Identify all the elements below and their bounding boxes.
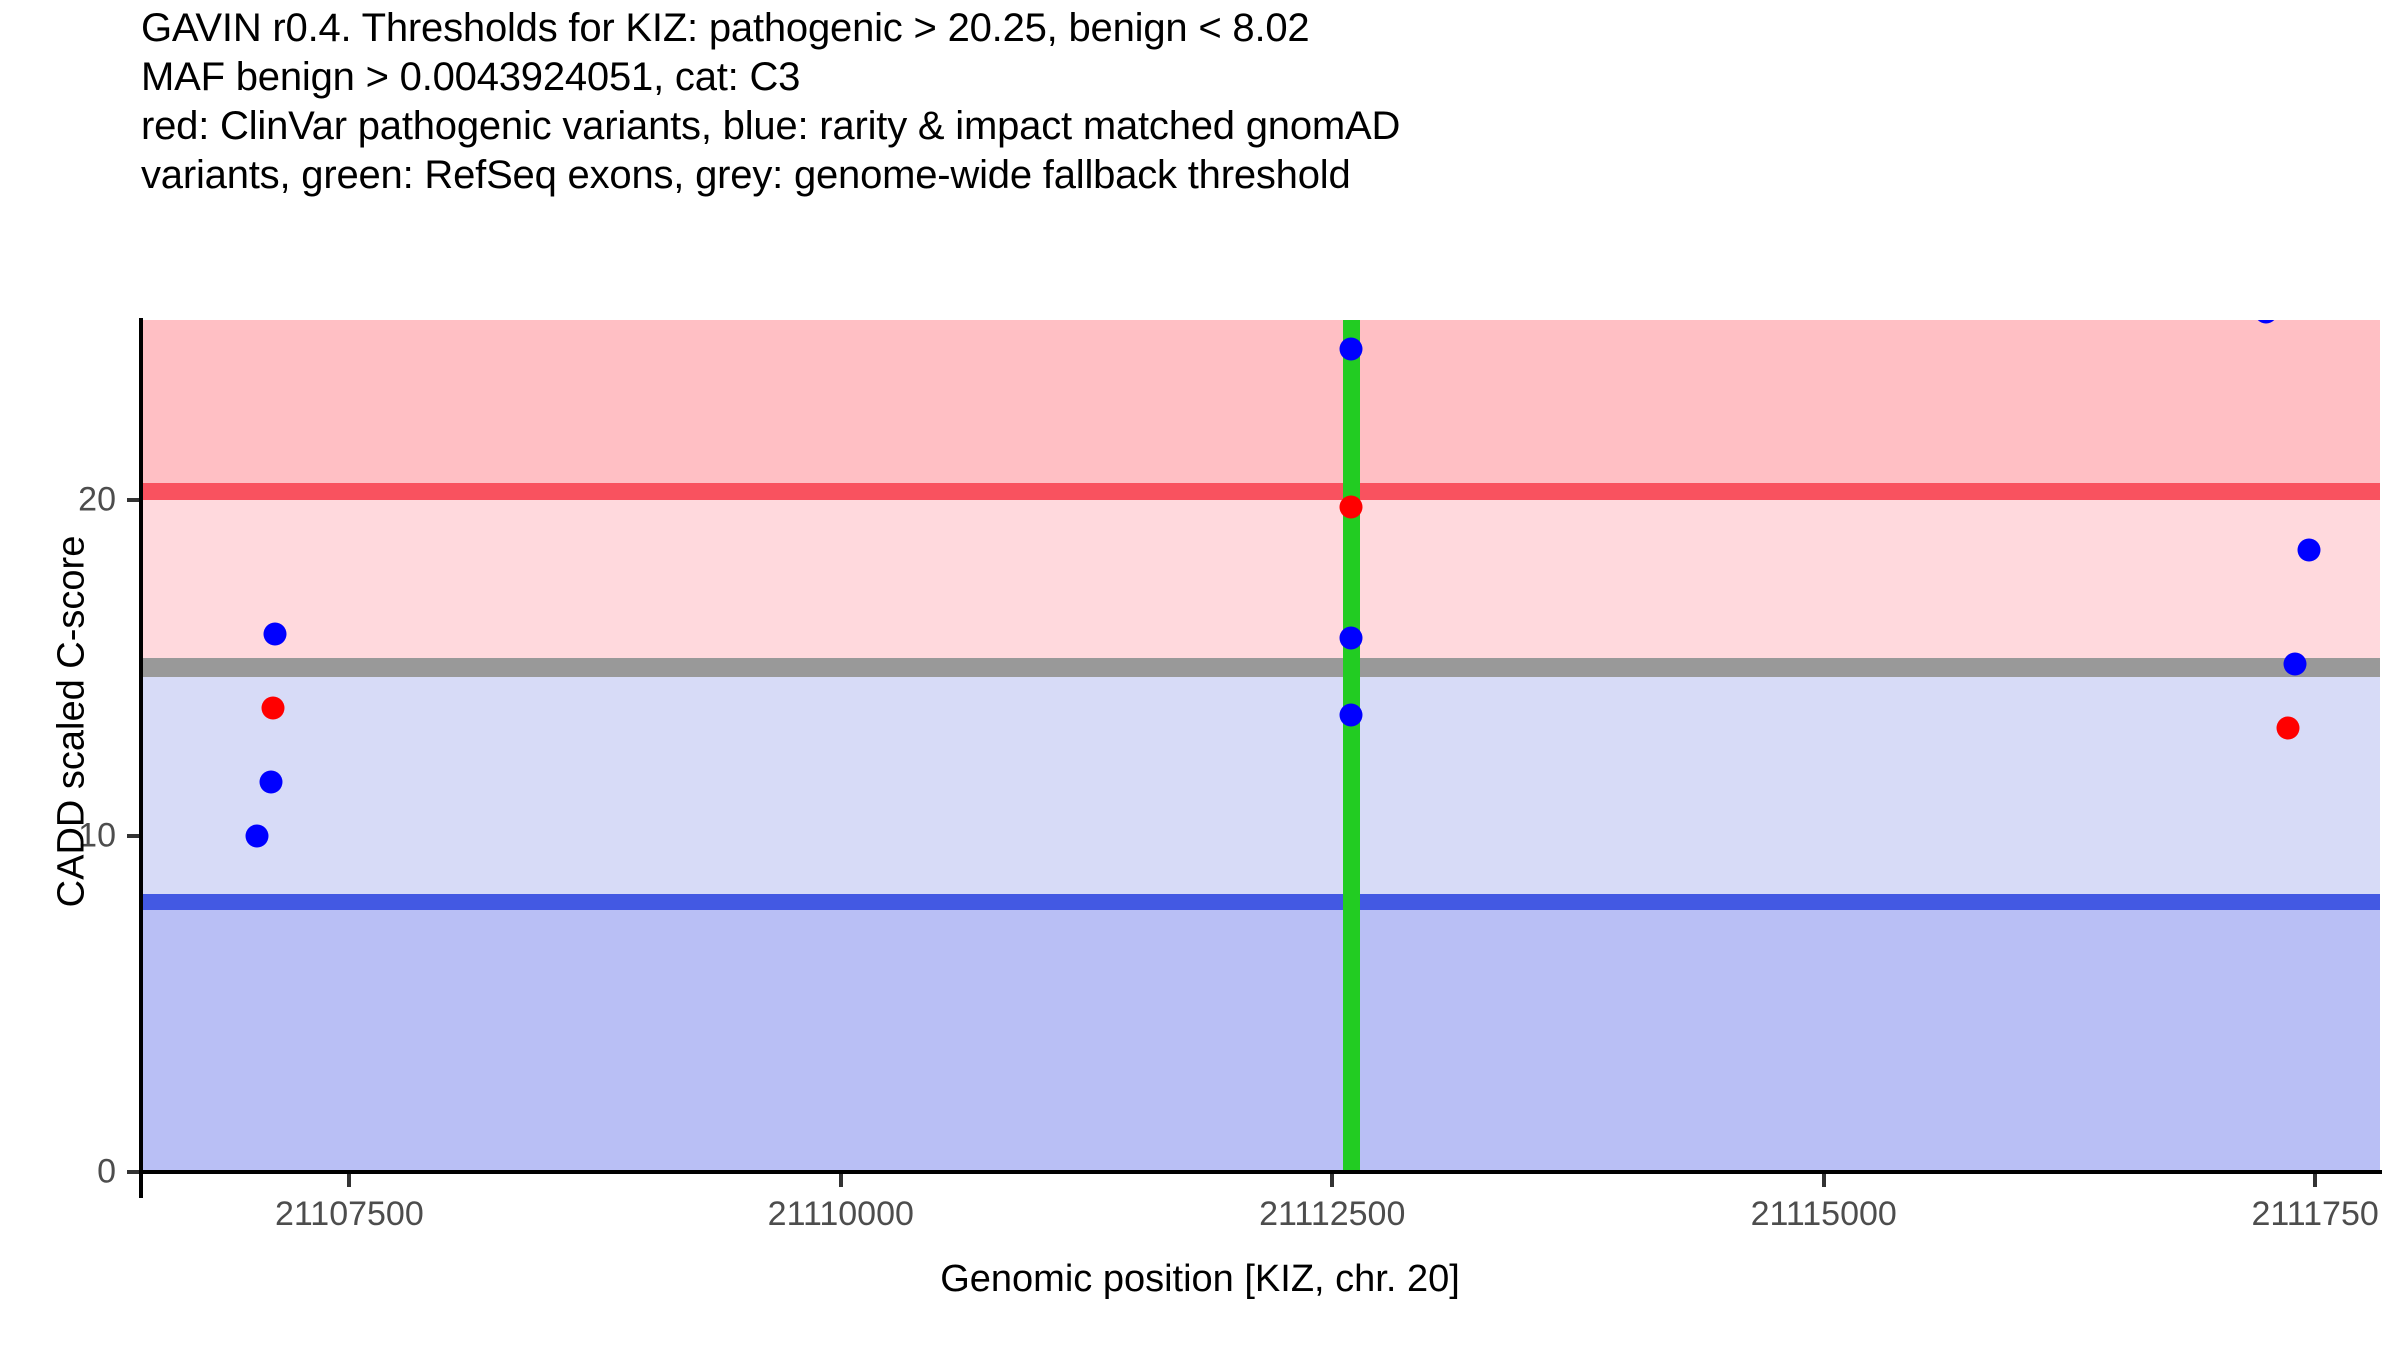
vus-lower-band: [141, 668, 2380, 903]
x-axis-tick-label: 2111750: [2251, 1195, 2378, 1234]
x-axis-title: Genomic position [KIZ, chr. 20]: [0, 1258, 2400, 1301]
x-axis-tick-label: 21112500: [1259, 1195, 1405, 1234]
data-point[interactable]: [2284, 653, 2307, 676]
chart-title-line-2: MAF benign > 0.0043924051, cat: C3: [141, 53, 2381, 102]
benign-band: [141, 902, 2380, 1172]
y-axis-tick-label: 0: [11, 1153, 116, 1192]
vus-upper-band: [141, 491, 2380, 667]
plot-panel-inner: [141, 320, 2380, 1172]
data-point[interactable]: [1339, 495, 1362, 518]
y-axis-line: [139, 318, 143, 1198]
data-point[interactable]: [1339, 703, 1362, 726]
chart-title-block: GAVIN r0.4. Thresholds for KIZ: pathogen…: [141, 4, 2381, 200]
data-point[interactable]: [1339, 626, 1362, 649]
x-axis-tick-label: 21115000: [1751, 1195, 1897, 1234]
y-axis-tick-mark: [127, 834, 139, 838]
pathogenic-band: [141, 320, 2380, 491]
plot-panel: [141, 320, 2380, 1172]
refseq-exon: [1343, 320, 1360, 1172]
x-axis-tick-mark: [347, 1174, 351, 1187]
benign-threshold-line: [141, 894, 2380, 910]
chart-title-line-3: red: ClinVar pathogenic variants, blue: …: [141, 102, 2381, 151]
data-point[interactable]: [2298, 539, 2321, 562]
y-axis-title: CADD scaled C-score: [51, 332, 94, 1112]
chart-title-line-1: GAVIN r0.4. Thresholds for KIZ: pathogen…: [141, 4, 2381, 53]
y-axis-tick-mark: [127, 1170, 139, 1174]
data-point[interactable]: [245, 824, 268, 847]
data-point[interactable]: [263, 623, 286, 646]
x-axis-tick-mark: [839, 1174, 843, 1187]
x-axis-tick-mark: [1330, 1174, 1334, 1187]
x-axis-line: [137, 1170, 2382, 1174]
data-point[interactable]: [1339, 337, 1362, 360]
x-axis-tick-label: 21107500: [275, 1195, 424, 1234]
pathogenic-threshold-line: [141, 483, 2380, 500]
x-axis-tick-mark: [1822, 1174, 1826, 1187]
chart-title-line-4: variants, green: RefSeq exons, grey: gen…: [141, 151, 2381, 200]
data-point[interactable]: [259, 771, 282, 794]
x-axis-tick-mark: [2313, 1174, 2317, 1187]
x-axis-tick-label: 21110000: [768, 1195, 914, 1234]
fallback-threshold-line: [141, 658, 2380, 677]
data-point[interactable]: [261, 697, 284, 720]
y-axis-tick-mark: [127, 498, 139, 502]
data-point[interactable]: [2276, 717, 2299, 740]
